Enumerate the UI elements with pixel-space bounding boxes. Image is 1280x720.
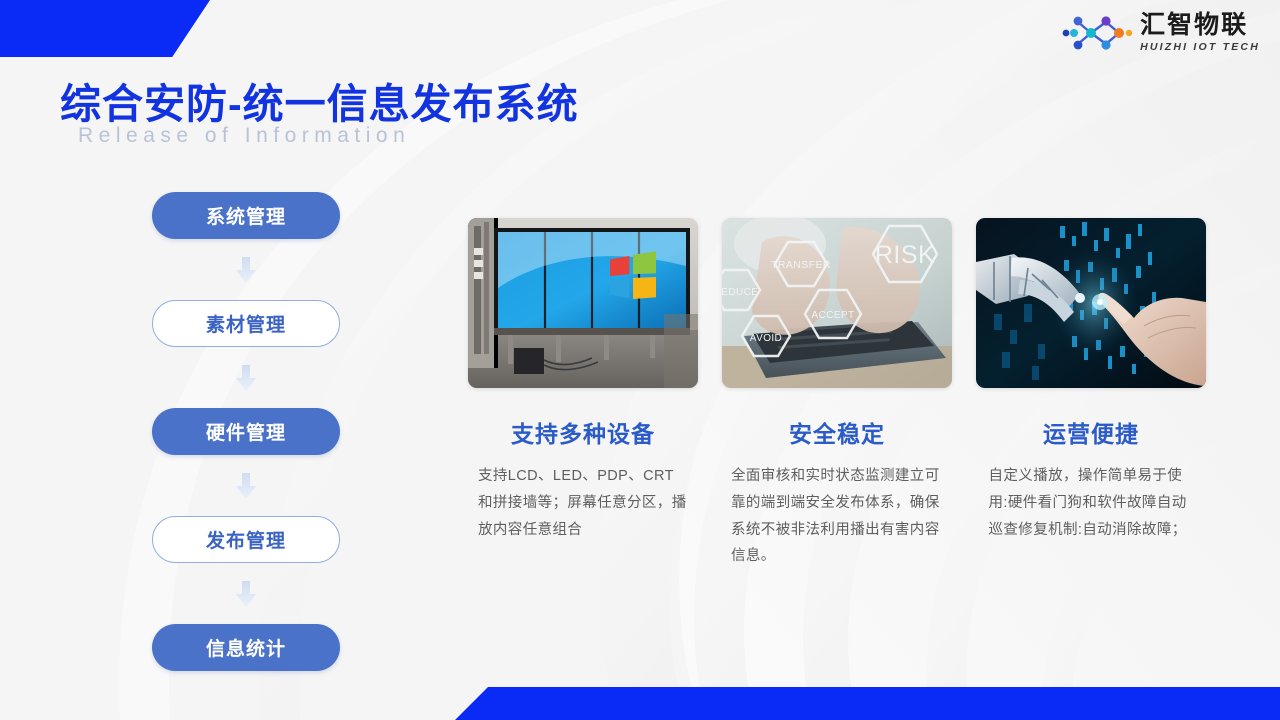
arrow-down-icon <box>233 347 259 408</box>
flow-step-hardware-management[interactable]: 硬件管理 <box>152 408 340 455</box>
card-title: 支持多种设备 <box>511 415 655 449</box>
risk-management-photo: RISK TRANSFER REDUCE ACCEPT AVOID <box>722 218 952 388</box>
flow-step-label: 发布管理 <box>206 526 286 553</box>
flow-step-label: 系统管理 <box>206 202 286 229</box>
card-title: 安全稳定 <box>789 415 885 449</box>
arrow-down-icon <box>233 455 259 516</box>
flow-step-release-management[interactable]: 发布管理 <box>152 516 340 563</box>
feature-card: RISK TRANSFER REDUCE ACCEPT AVOID 安全稳定 全… <box>722 218 952 570</box>
card-title: 运营便捷 <box>1043 415 1139 449</box>
process-flow: 系统管理 素材管理 硬件管理 发布管理 <box>152 192 340 671</box>
flow-step-system-management[interactable]: 系统管理 <box>152 192 340 239</box>
molecule-network-icon <box>1061 12 1133 54</box>
flow-step-information-statistics[interactable]: 信息统计 <box>152 624 340 671</box>
flow-step-material-management[interactable]: 素材管理 <box>152 300 340 347</box>
arrow-down-icon <box>233 563 259 624</box>
page-subtitle: Release of Information <box>78 124 410 148</box>
brand-logo: 汇智物联 HUIZHI IOT TECH <box>1061 12 1260 54</box>
card-body: 自定义播放，操作简单易于使用:硬件看门狗和软件故障自动巡查修复机制:自动消除故障… <box>989 463 1194 543</box>
feature-card: 运营便捷 自定义播放，操作简单易于使用:硬件看门狗和软件故障自动巡查修复机制:自… <box>976 218 1206 570</box>
video-wall-photo <box>468 218 698 388</box>
card-body: 全面审核和实时状态监测建立可靠的端到端安全发布体系，确保系统不被非法利用播出有害… <box>731 463 943 570</box>
flow-step-label: 硬件管理 <box>206 418 286 445</box>
slide-root: 汇智物联 HUIZHI IOT TECH 综合安防-统一信息发布系统 Relea… <box>0 0 1280 720</box>
logo-name-cn: 汇智物联 <box>1140 13 1260 38</box>
card-body: 支持LCD、LED、PDP、CRT和拼接墙等；屏幕任意分区，播放内容任意组合 <box>478 463 688 543</box>
arrow-down-icon <box>233 239 259 300</box>
flow-step-label: 信息统计 <box>206 634 286 661</box>
feature-card-list: 支持多种设备 支持LCD、LED、PDP、CRT和拼接墙等；屏幕任意分区，播放内… <box>468 218 1206 570</box>
feature-card: 支持多种设备 支持LCD、LED、PDP、CRT和拼接墙等；屏幕任意分区，播放内… <box>468 218 698 570</box>
page-title: 综合安防-统一信息发布系统 <box>60 70 579 130</box>
logo-name-en: HUIZHI IOT TECH <box>1140 42 1260 53</box>
robot-human-hand-photo <box>976 218 1206 388</box>
flow-step-label: 素材管理 <box>206 310 286 337</box>
bottom-right-accent-band <box>455 687 1280 720</box>
